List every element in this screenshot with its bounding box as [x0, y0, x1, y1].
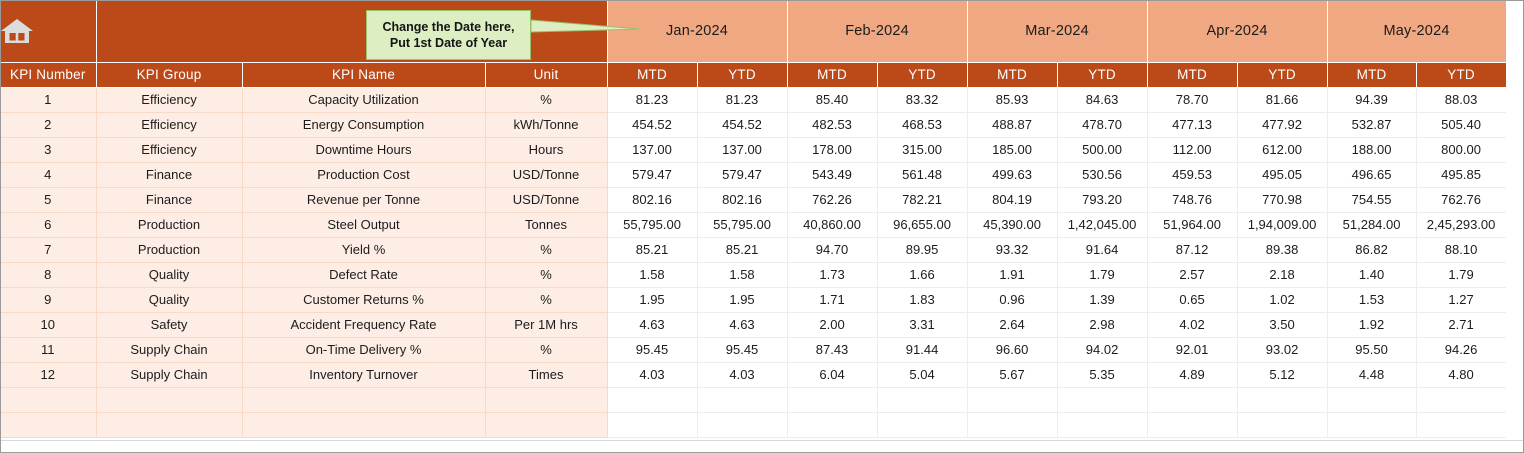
cell-value: 85.40 — [787, 87, 877, 112]
cell-value: 94.39 — [1327, 87, 1416, 112]
cell-value: 91.64 — [1057, 237, 1147, 262]
cell-value: 86.82 — [1327, 237, 1416, 262]
cell-empty — [242, 412, 485, 437]
cell-value: 2.64 — [967, 312, 1057, 337]
home-icon — [0, 16, 96, 46]
header-jan-mtd[interactable]: MTD — [607, 62, 697, 87]
cell-kpi-name: Defect Rate — [242, 262, 485, 287]
cell-value: 482.53 — [787, 112, 877, 137]
cell-empty — [96, 412, 242, 437]
cell-value: 543.49 — [787, 162, 877, 187]
header-mar-mtd[interactable]: MTD — [967, 62, 1057, 87]
cell-value: 5.35 — [1057, 362, 1147, 387]
cell-kpi-group: Safety — [96, 312, 242, 337]
cell-empty — [967, 387, 1057, 412]
cell-empty — [697, 412, 787, 437]
cell-kpi-number: 6 — [0, 212, 96, 237]
cell-value: 45,390.00 — [967, 212, 1057, 237]
cell-value: 81.23 — [607, 87, 697, 112]
cell-value: 1.95 — [697, 287, 787, 312]
cell-value: 94.02 — [1057, 337, 1147, 362]
cell-kpi-number: 5 — [0, 187, 96, 212]
cell-unit: % — [485, 287, 607, 312]
cell-value: 55,795.00 — [607, 212, 697, 237]
cell-empty — [485, 412, 607, 437]
cell-value: 40,860.00 — [787, 212, 877, 237]
cell-unit: % — [485, 87, 607, 112]
cell-empty — [1147, 412, 1237, 437]
cell-value: 800.00 — [1416, 137, 1506, 162]
cell-value: 2.57 — [1147, 262, 1237, 287]
cell-kpi-group: Supply Chain — [96, 337, 242, 362]
cell-empty — [607, 387, 697, 412]
kpi-table: Jan-2024 Feb-2024 Mar-2024 Apr-2024 May-… — [0, 0, 1507, 438]
cell-empty — [0, 387, 96, 412]
cell-value: 5.04 — [877, 362, 967, 387]
cell-value: 468.53 — [877, 112, 967, 137]
cell-value: 802.16 — [607, 187, 697, 212]
cell-kpi-name: Capacity Utilization — [242, 87, 485, 112]
cell-value: 188.00 — [1327, 137, 1416, 162]
cell-kpi-number: 4 — [0, 162, 96, 187]
column-header-row: KPI Number KPI Group KPI Name Unit MTD Y… — [0, 62, 1506, 87]
cell-value: 579.47 — [697, 162, 787, 187]
cell-unit: USD/Tonne — [485, 187, 607, 212]
cell-value: 81.23 — [697, 87, 787, 112]
cell-value: 1.66 — [877, 262, 967, 287]
cell-value: 1.53 — [1327, 287, 1416, 312]
cell-value: 81.66 — [1237, 87, 1327, 112]
cell-value: 459.53 — [1147, 162, 1237, 187]
callout-line-2: Put 1st Date of Year — [383, 35, 515, 51]
cell-empty — [1327, 412, 1416, 437]
right-margin — [1506, 0, 1524, 453]
cell-value: 4.80 — [1416, 362, 1506, 387]
table-row: 3EfficiencyDowntime HoursHours137.00137.… — [0, 137, 1506, 162]
cell-kpi-number: 8 — [0, 262, 96, 287]
table-row-empty — [0, 387, 1506, 412]
cell-value: 4.63 — [697, 312, 787, 337]
cell-value: 454.52 — [697, 112, 787, 137]
cell-empty — [1327, 387, 1416, 412]
cell-value: 93.02 — [1237, 337, 1327, 362]
cell-empty — [96, 387, 242, 412]
header-unit[interactable]: Unit — [485, 62, 607, 87]
cell-value: 532.87 — [1327, 112, 1416, 137]
cell-kpi-number: 10 — [0, 312, 96, 337]
cell-kpi-number: 7 — [0, 237, 96, 262]
cell-value: 4.48 — [1327, 362, 1416, 387]
cell-kpi-number: 1 — [0, 87, 96, 112]
month-header-feb: Feb-2024 — [787, 0, 967, 62]
cell-value: 2.00 — [787, 312, 877, 337]
cell-value: 94.70 — [787, 237, 877, 262]
cell-value: 51,284.00 — [1327, 212, 1416, 237]
cell-value: 1.95 — [607, 287, 697, 312]
cell-value: 96.60 — [967, 337, 1057, 362]
cell-value: 1.39 — [1057, 287, 1147, 312]
cell-empty — [1057, 387, 1147, 412]
cell-value: 2.71 — [1416, 312, 1506, 337]
header-may-mtd[interactable]: MTD — [1327, 62, 1416, 87]
cell-kpi-group: Quality — [96, 262, 242, 287]
header-feb-ytd[interactable]: YTD — [877, 62, 967, 87]
cell-value: 770.98 — [1237, 187, 1327, 212]
cell-kpi-group: Quality — [96, 287, 242, 312]
cell-empty — [787, 387, 877, 412]
month-header-may: May-2024 — [1327, 0, 1506, 62]
cell-empty — [877, 387, 967, 412]
cell-value: 2.18 — [1237, 262, 1327, 287]
cell-value: 496.65 — [1327, 162, 1416, 187]
cell-value: 802.16 — [697, 187, 787, 212]
cell-value: 137.00 — [607, 137, 697, 162]
home-button[interactable] — [0, 0, 96, 62]
cell-value: 1.27 — [1416, 287, 1506, 312]
cell-value: 1.71 — [787, 287, 877, 312]
cell-kpi-name: Yield % — [242, 237, 485, 262]
cell-value: 4.03 — [697, 362, 787, 387]
cell-value: 89.95 — [877, 237, 967, 262]
cell-kpi-group: Efficiency — [96, 112, 242, 137]
cell-value: 1.92 — [1327, 312, 1416, 337]
cell-kpi-number: 2 — [0, 112, 96, 137]
cell-empty — [787, 412, 877, 437]
cell-value: 500.00 — [1057, 137, 1147, 162]
cell-value: 762.76 — [1416, 187, 1506, 212]
kpi-dashboard-sheet: Jan-2024 Feb-2024 Mar-2024 Apr-2024 May-… — [0, 0, 1524, 453]
cell-value: 95.50 — [1327, 337, 1416, 362]
cell-empty — [877, 412, 967, 437]
cell-value: 4.02 — [1147, 312, 1237, 337]
header-jan-ytd[interactable]: YTD — [697, 62, 787, 87]
cell-value: 793.20 — [1057, 187, 1147, 212]
cell-value: 51,964.00 — [1147, 212, 1237, 237]
table-row: 6ProductionSteel OutputTonnes55,795.0055… — [0, 212, 1506, 237]
cell-value: 754.55 — [1327, 187, 1416, 212]
cell-empty — [1057, 412, 1147, 437]
cell-value: 0.96 — [967, 287, 1057, 312]
callout-line-1: Change the Date here, — [383, 19, 515, 35]
cell-value: 748.76 — [1147, 187, 1237, 212]
cell-value: 85.93 — [967, 87, 1057, 112]
cell-empty — [242, 387, 485, 412]
cell-kpi-group: Production — [96, 212, 242, 237]
header-kpi-name[interactable]: KPI Name — [242, 62, 485, 87]
cell-unit: % — [485, 262, 607, 287]
cell-value: 88.10 — [1416, 237, 1506, 262]
cell-value: 1.83 — [877, 287, 967, 312]
cell-kpi-name: Inventory Turnover — [242, 362, 485, 387]
header-feb-mtd[interactable]: MTD — [787, 62, 877, 87]
cell-value: 1,94,009.00 — [1237, 212, 1327, 237]
cell-value: 88.03 — [1416, 87, 1506, 112]
cell-value: 1.79 — [1057, 262, 1147, 287]
cell-value: 85.21 — [697, 237, 787, 262]
table-row: 2EfficiencyEnergy ConsumptionkWh/Tonne45… — [0, 112, 1506, 137]
cell-value: 95.45 — [697, 337, 787, 362]
cell-kpi-group: Finance — [96, 162, 242, 187]
table-row: 10SafetyAccident Frequency RatePer 1M hr… — [0, 312, 1506, 337]
header-apr-ytd[interactable]: YTD — [1237, 62, 1327, 87]
cell-value: 2,45,293.00 — [1416, 212, 1506, 237]
cell-value: 85.21 — [607, 237, 697, 262]
cell-empty — [1147, 387, 1237, 412]
cell-kpi-number: 3 — [0, 137, 96, 162]
month-header-mar: Mar-2024 — [967, 0, 1147, 62]
cell-value: 5.67 — [967, 362, 1057, 387]
cell-kpi-group: Finance — [96, 187, 242, 212]
callout-text: Change the Date here, Put 1st Date of Ye… — [383, 19, 515, 51]
cell-value: 4.03 — [607, 362, 697, 387]
cell-kpi-group: Supply Chain — [96, 362, 242, 387]
cell-value: 1.79 — [1416, 262, 1506, 287]
cell-value: 1.40 — [1327, 262, 1416, 287]
cell-value: 505.40 — [1416, 112, 1506, 137]
cell-value: 1.58 — [697, 262, 787, 287]
cell-value: 530.56 — [1057, 162, 1147, 187]
table-row: 8QualityDefect Rate%1.581.581.731.661.91… — [0, 262, 1506, 287]
cell-value: 2.98 — [1057, 312, 1147, 337]
callout-change-date[interactable]: Change the Date here, Put 1st Date of Ye… — [366, 10, 531, 60]
cell-empty — [697, 387, 787, 412]
cell-value: 94.26 — [1416, 337, 1506, 362]
cell-value: 93.32 — [967, 237, 1057, 262]
cell-value: 5.12 — [1237, 362, 1327, 387]
cell-value: 4.89 — [1147, 362, 1237, 387]
cell-empty — [1416, 387, 1506, 412]
cell-value: 1.73 — [787, 262, 877, 287]
cell-kpi-name: Accident Frequency Rate — [242, 312, 485, 337]
cell-empty — [1416, 412, 1506, 437]
cell-value: 477.92 — [1237, 112, 1327, 137]
cell-value: 4.63 — [607, 312, 697, 337]
cell-empty — [1237, 412, 1327, 437]
cell-kpi-number: 9 — [0, 287, 96, 312]
cell-unit: Times — [485, 362, 607, 387]
header-apr-mtd[interactable]: MTD — [1147, 62, 1237, 87]
cell-value: 579.47 — [607, 162, 697, 187]
cell-value: 477.13 — [1147, 112, 1237, 137]
table-row: 12Supply ChainInventory TurnoverTimes4.0… — [0, 362, 1506, 387]
table-row-empty — [0, 412, 1506, 437]
cell-kpi-group: Production — [96, 237, 242, 262]
month-header-jan: Jan-2024 — [607, 0, 787, 62]
title-band-row: Jan-2024 Feb-2024 Mar-2024 Apr-2024 May-… — [0, 0, 1506, 62]
cell-value: 782.21 — [877, 187, 967, 212]
cell-unit: kWh/Tonne — [485, 112, 607, 137]
cell-value: 454.52 — [607, 112, 697, 137]
cell-value: 315.00 — [877, 137, 967, 162]
cell-kpi-number: 11 — [0, 337, 96, 362]
bottom-margin — [0, 440, 1524, 453]
cell-empty — [0, 412, 96, 437]
cell-value: 83.32 — [877, 87, 967, 112]
cell-value: 1.02 — [1237, 287, 1327, 312]
cell-value: 499.63 — [967, 162, 1057, 187]
cell-empty — [967, 412, 1057, 437]
cell-value: 3.31 — [877, 312, 967, 337]
cell-value: 112.00 — [1147, 137, 1237, 162]
cell-value: 1,42,045.00 — [1057, 212, 1147, 237]
cell-value: 185.00 — [967, 137, 1057, 162]
table-row: 9QualityCustomer Returns %%1.951.951.711… — [0, 287, 1506, 312]
table-row: 4FinanceProduction CostUSD/Tonne579.4757… — [0, 162, 1506, 187]
cell-unit: USD/Tonne — [485, 162, 607, 187]
header-may-ytd[interactable]: YTD — [1416, 62, 1506, 87]
cell-value: 612.00 — [1237, 137, 1327, 162]
cell-unit: Per 1M hrs — [485, 312, 607, 337]
cell-kpi-name: Revenue per Tonne — [242, 187, 485, 212]
cell-value: 6.04 — [787, 362, 877, 387]
header-kpi-group[interactable]: KPI Group — [96, 62, 242, 87]
cell-kpi-name: Steel Output — [242, 212, 485, 237]
cell-kpi-name: Downtime Hours — [242, 137, 485, 162]
cell-value: 89.38 — [1237, 237, 1327, 262]
cell-value: 78.70 — [1147, 87, 1237, 112]
header-kpi-number[interactable]: KPI Number — [0, 62, 96, 87]
cell-value: 87.43 — [787, 337, 877, 362]
month-header-apr: Apr-2024 — [1147, 0, 1327, 62]
cell-value: 3.50 — [1237, 312, 1327, 337]
cell-value: 91.44 — [877, 337, 967, 362]
cell-kpi-name: Production Cost — [242, 162, 485, 187]
cell-kpi-group: Efficiency — [96, 137, 242, 162]
cell-kpi-name: Customer Returns % — [242, 287, 485, 312]
cell-value: 178.00 — [787, 137, 877, 162]
cell-kpi-name: On-Time Delivery % — [242, 337, 485, 362]
cell-value: 1.91 — [967, 262, 1057, 287]
cell-empty — [1237, 387, 1327, 412]
cell-value: 495.85 — [1416, 162, 1506, 187]
cell-empty — [485, 387, 607, 412]
cell-unit: Hours — [485, 137, 607, 162]
cell-value: 84.63 — [1057, 87, 1147, 112]
cell-value: 137.00 — [697, 137, 787, 162]
table-row: 7ProductionYield %%85.2185.2194.7089.959… — [0, 237, 1506, 262]
cell-unit: Tonnes — [485, 212, 607, 237]
cell-value: 95.45 — [607, 337, 697, 362]
cell-kpi-group: Efficiency — [96, 87, 242, 112]
cell-value: 488.87 — [967, 112, 1057, 137]
table-row: 11Supply ChainOn-Time Delivery %%95.4595… — [0, 337, 1506, 362]
header-mar-ytd[interactable]: YTD — [1057, 62, 1147, 87]
cell-value: 495.05 — [1237, 162, 1327, 187]
cell-value: 804.19 — [967, 187, 1057, 212]
table-row: 5FinanceRevenue per TonneUSD/Tonne802.16… — [0, 187, 1506, 212]
cell-kpi-name: Energy Consumption — [242, 112, 485, 137]
cell-unit: % — [485, 237, 607, 262]
kpi-table-body: 1EfficiencyCapacity Utilization%81.2381.… — [0, 87, 1506, 437]
cell-value: 0.65 — [1147, 287, 1237, 312]
cell-value: 96,655.00 — [877, 212, 967, 237]
cell-unit: % — [485, 337, 607, 362]
cell-value: 762.26 — [787, 187, 877, 212]
cell-value: 87.12 — [1147, 237, 1237, 262]
cell-value: 478.70 — [1057, 112, 1147, 137]
table-row: 1EfficiencyCapacity Utilization%81.2381.… — [0, 87, 1506, 112]
cell-value: 561.48 — [877, 162, 967, 187]
cell-value: 55,795.00 — [697, 212, 787, 237]
cell-value: 92.01 — [1147, 337, 1237, 362]
cell-value: 1.58 — [607, 262, 697, 287]
cell-kpi-number: 12 — [0, 362, 96, 387]
cell-empty — [607, 412, 697, 437]
